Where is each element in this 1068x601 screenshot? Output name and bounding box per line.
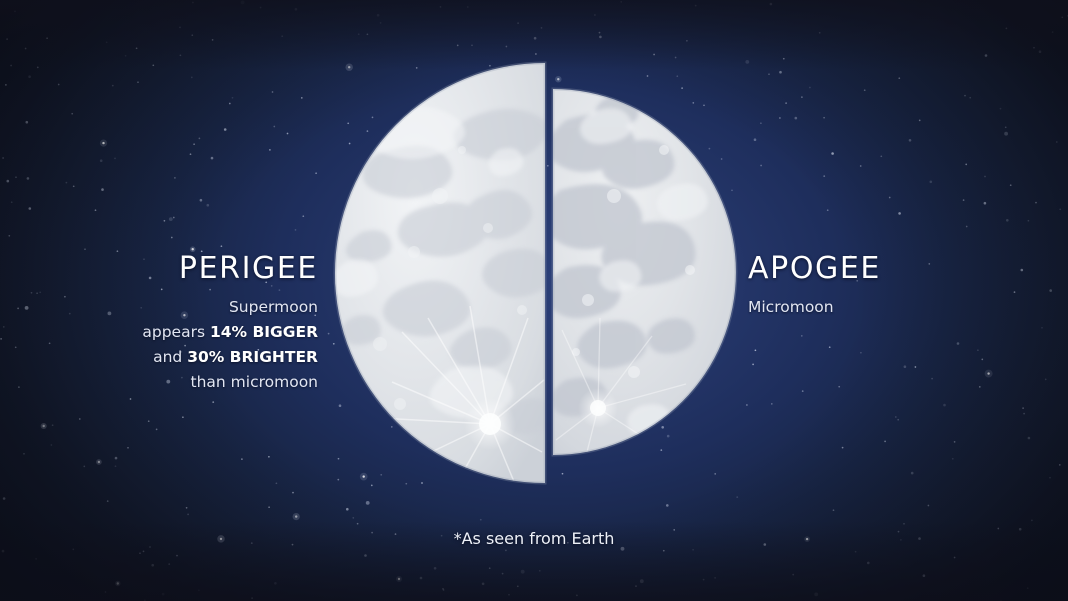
moon-comparison-infographic: PERIGEE Supermoon appears 14% BIGGER and… — [0, 0, 1068, 601]
perigee-title: PERIGEE — [0, 251, 318, 286]
apogee-moon-half — [541, 89, 736, 456]
perigee-label-block: PERIGEE Supermoon appears 14% BIGGER and… — [0, 251, 318, 395]
perigee-subtitle-line-2: appears 14% BIGGER — [0, 320, 318, 345]
apogee-label-block: APOGEE Micromoon — [748, 251, 881, 320]
perigee-moon-half — [332, 63, 554, 496]
perigee-subtitle-line-4: than micromoon — [0, 370, 318, 395]
perigee-subtitle-line-3: and 30% BRIGHTER — [0, 345, 318, 370]
perigee-subtitle-line-1: Supermoon — [0, 295, 318, 320]
apogee-title: APOGEE — [748, 251, 881, 286]
apogee-subtitle-line-1: Micromoon — [748, 295, 881, 320]
footnote-as-seen-from-earth: *As seen from Earth — [0, 529, 1068, 548]
